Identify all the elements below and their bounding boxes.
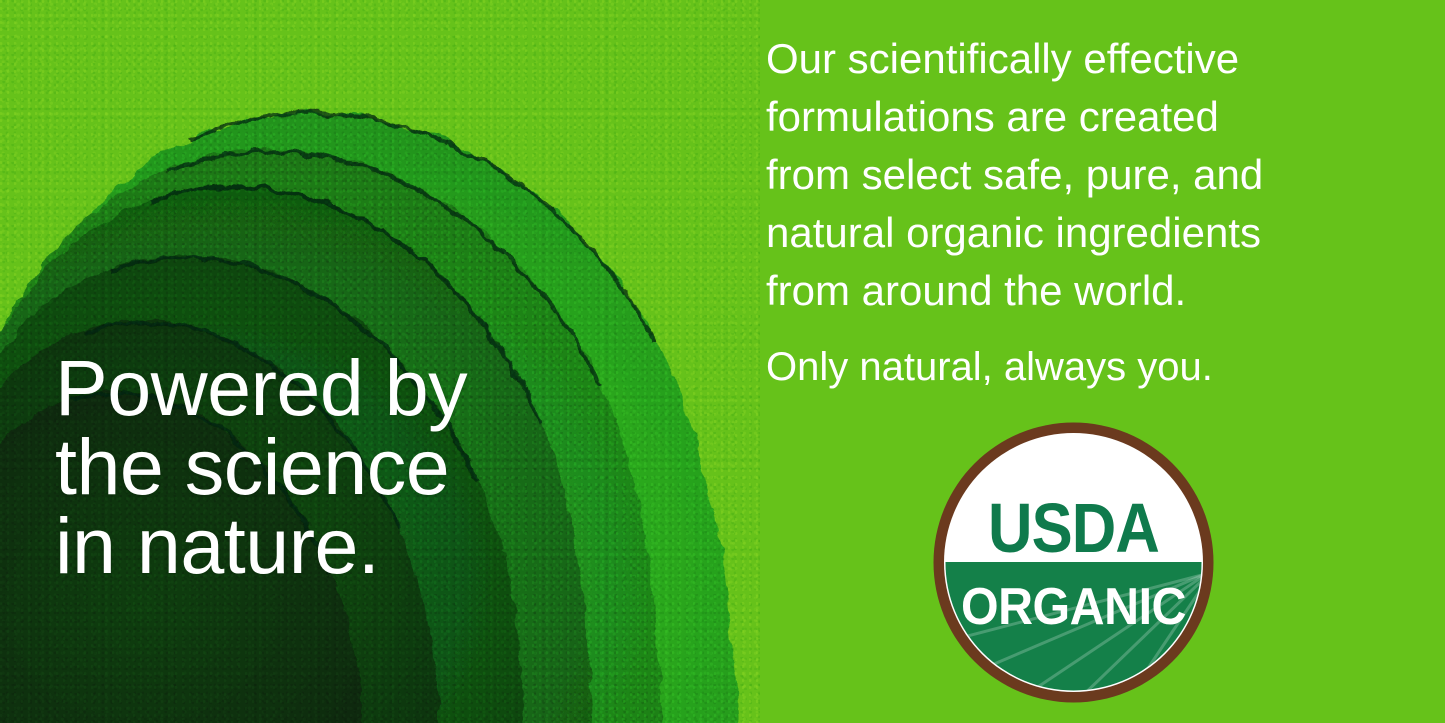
tagline: Only natural, always you. [766, 340, 1356, 394]
headline: Powered by the science in nature. [55, 348, 705, 585]
brand-banner: Powered by the science in nature. Our sc… [0, 0, 1445, 723]
headline-line-2: the science [55, 427, 705, 506]
body-copy-line-5: from around the world. [766, 262, 1356, 320]
seal-top-text: USDA [988, 488, 1159, 567]
body-copy-line-4: natural organic ingredients [766, 204, 1356, 262]
usda-organic-seal: USDA ORGANIC [930, 419, 1217, 706]
body-copy-line-3: from select safe, pure, and [766, 146, 1356, 204]
body-copy-line-1: Our scientifically effective [766, 30, 1356, 88]
headline-line-3: in nature. [55, 506, 705, 585]
seal-bottom-text: ORGANIC [961, 577, 1186, 635]
body-copy-line-2: formulations are created [766, 88, 1356, 146]
headline-line-1: Powered by [55, 348, 705, 427]
body-copy: Our scientifically effective formulation… [766, 30, 1356, 320]
